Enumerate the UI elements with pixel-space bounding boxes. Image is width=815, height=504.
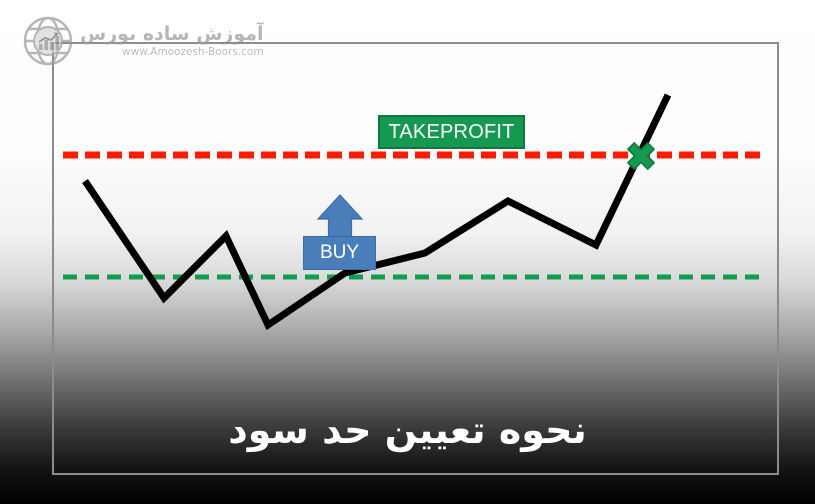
takeprofit-label-box: TAKEPROFIT — [378, 115, 525, 149]
infographic-canvas: آموزش ساده بورس www.Amoozesh-Boors.com T… — [0, 0, 815, 504]
takeprofit-label-text: TAKEPROFIT — [388, 121, 514, 144]
buy-label-box: BUY — [303, 236, 376, 270]
price-line — [85, 95, 668, 325]
page-title: نحوه تعیین حد سود — [0, 408, 815, 452]
buy-label-text: BUY — [320, 242, 359, 264]
arrow-up-icon — [318, 195, 362, 240]
